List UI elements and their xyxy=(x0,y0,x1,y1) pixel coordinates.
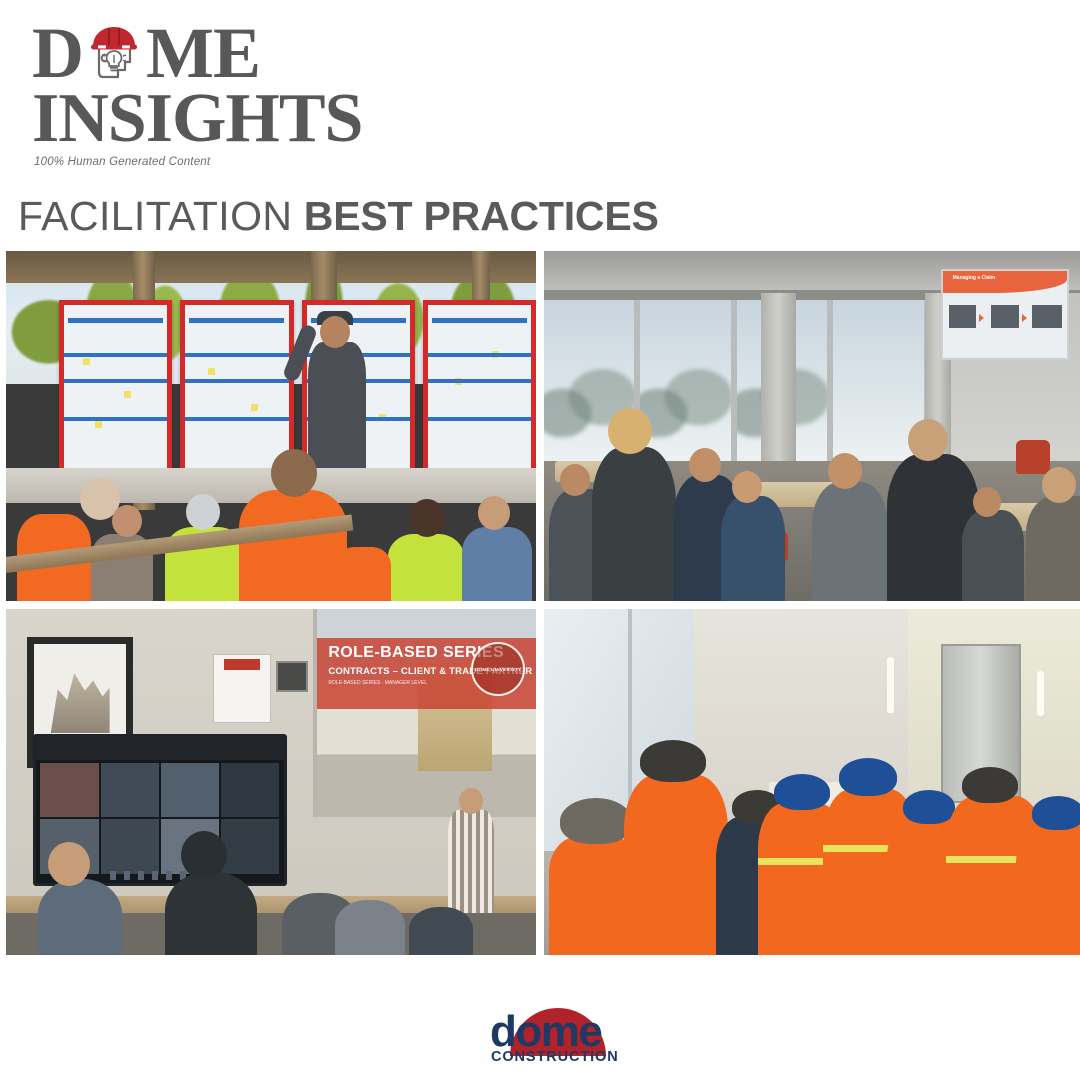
brand-letter-d: D xyxy=(32,22,83,84)
dome-university-seal: DOME UNIVERSITY xyxy=(471,642,525,696)
photo-jobsite-crew-huddle xyxy=(544,609,1080,955)
logo-wordmark: dome xyxy=(490,1010,601,1054)
brand-wordmark-line2: INSIGHTS xyxy=(32,88,550,150)
brand-wordmark-line1: D xyxy=(32,22,550,84)
projected-slide-role-based-series: ROLE-BASED SERIES CONTRACTS – CLIENT & T… xyxy=(313,609,536,817)
slide-title-text: Managing a Claim xyxy=(953,275,996,281)
page-title: FACILITATION BEST PRACTICES xyxy=(18,192,659,240)
projected-slide-managing-a-claim: Managing a Claim xyxy=(941,269,1070,360)
photo-training-room-windows: Managing a Claim xyxy=(544,251,1080,601)
hard-hat-head-lightbulb-icon xyxy=(85,22,143,84)
logo-subtext: CONSTRUCTION xyxy=(491,1050,619,1065)
photo-grid: Managing a Claim xyxy=(6,251,1080,955)
brand-tagline: 100% Human Generated Content xyxy=(34,156,550,168)
footer-logo: dome CONSTRUCTION xyxy=(0,1004,1080,1066)
photo-outdoor-pull-plan xyxy=(6,251,536,601)
page-title-bold: BEST PRACTICES xyxy=(304,193,659,239)
page-title-light: FACILITATION xyxy=(18,193,292,239)
slide-presenter-list: ROLE-BASED SERIES · MANAGER LEVEL xyxy=(328,680,427,687)
dome-construction-logo: dome CONSTRUCTION xyxy=(464,1004,616,1066)
presenter-figure xyxy=(448,810,494,914)
brand-header: D xyxy=(30,22,550,172)
brand-letters-me: ME xyxy=(146,22,260,84)
photo-hybrid-classroom: ROLE-BASED SERIES CONTRACTS – CLIENT & T… xyxy=(6,609,536,955)
